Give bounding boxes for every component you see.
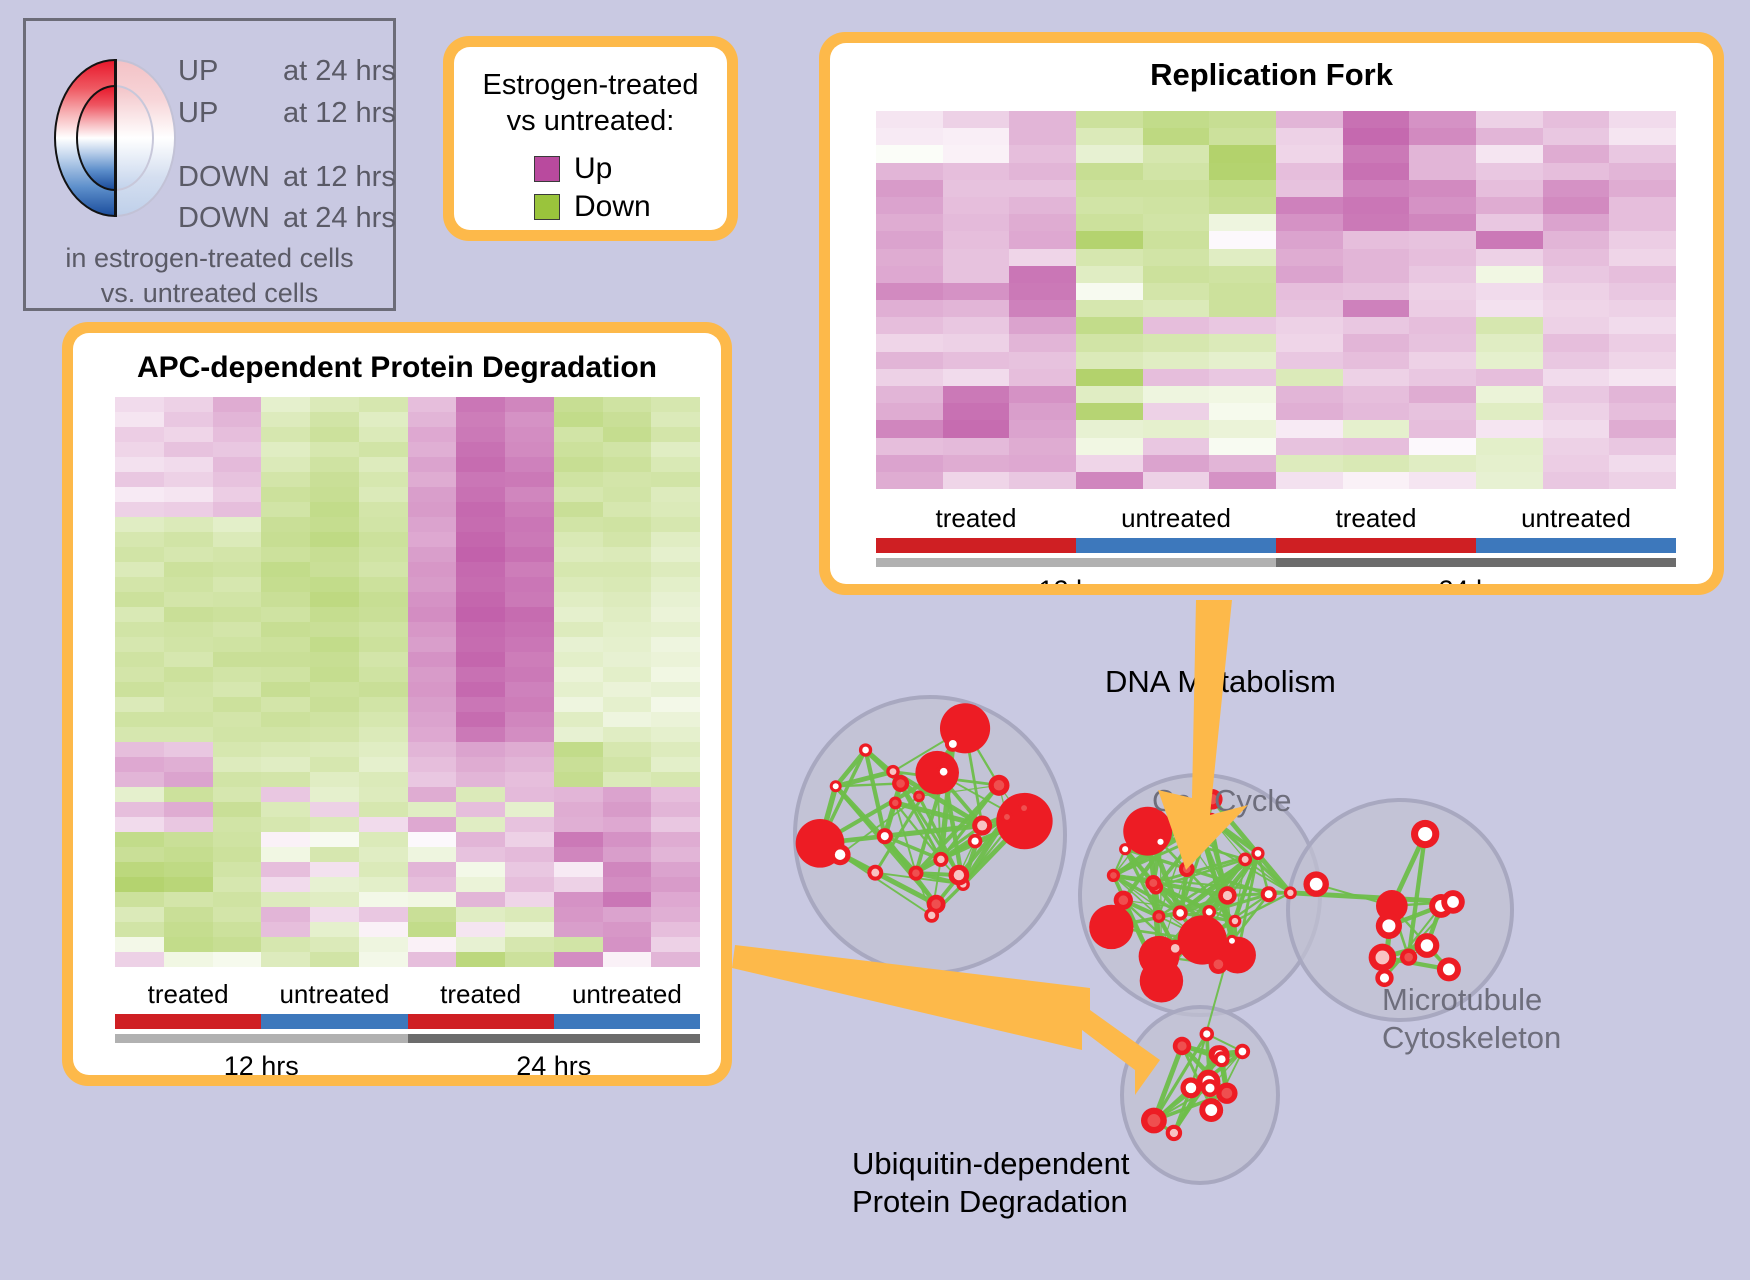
network-node[interactable] <box>1229 915 1242 928</box>
heatmap-cell <box>943 317 1010 334</box>
heatmap-cell <box>408 862 457 877</box>
heatmap-cell <box>115 637 164 652</box>
node-core <box>1122 846 1128 852</box>
heatmap-cell <box>1009 369 1076 386</box>
network-node[interactable] <box>988 775 1009 796</box>
heatmap-cell <box>651 727 700 742</box>
heatmap-cell <box>1143 472 1210 489</box>
heatmap-cell <box>1609 334 1676 351</box>
heatmap-cell <box>1409 145 1476 162</box>
heatmap-cell <box>261 877 310 892</box>
network-node[interactable] <box>1214 1051 1230 1067</box>
network-node[interactable] <box>1251 847 1264 860</box>
apc-heatmap-wrap: treateduntreatedtreateduntreated 12 hrs2… <box>115 397 700 1075</box>
heatmap-cell <box>1543 352 1610 369</box>
heatmap-cell <box>1143 369 1210 386</box>
heatmap-cell <box>115 577 164 592</box>
heatmap-cell <box>115 727 164 742</box>
heatmap-cell <box>1609 145 1676 162</box>
heatmap-cell <box>1343 386 1410 403</box>
network-node[interactable] <box>1192 825 1213 846</box>
heatmap-cell <box>651 817 700 832</box>
heatmap-cell <box>408 412 457 427</box>
heatmap-cell <box>1209 180 1276 197</box>
network-node[interactable] <box>1119 843 1131 855</box>
network-node[interactable] <box>830 844 851 865</box>
network-node[interactable] <box>1107 869 1120 882</box>
heatmap-cell <box>1143 266 1210 283</box>
heatmap-cell <box>456 937 505 952</box>
heatmap-cell <box>1076 317 1143 334</box>
heatmap-cell <box>408 877 457 892</box>
heatmap-cell <box>310 637 359 652</box>
heatmap-cell <box>164 637 213 652</box>
node-core <box>1183 865 1191 873</box>
heatmap-cell <box>310 802 359 817</box>
heatmap-cell <box>1543 420 1610 437</box>
heatmap-cell <box>1209 438 1276 455</box>
network-node[interactable] <box>867 865 883 881</box>
network-node[interactable] <box>1238 852 1252 866</box>
heatmap-cell <box>1409 197 1476 214</box>
network-node[interactable] <box>1173 905 1188 920</box>
node-core <box>1287 890 1293 896</box>
heatmap-cell <box>651 412 700 427</box>
network-node[interactable] <box>936 764 951 779</box>
heatmap-cell <box>1609 403 1676 420</box>
network-node[interactable] <box>949 865 970 886</box>
heatmap-cell <box>603 607 652 622</box>
heatmap-cell <box>1209 403 1276 420</box>
network-node[interactable] <box>1303 871 1328 896</box>
heatmap-cell <box>603 757 652 772</box>
heatmap-cell <box>164 847 213 862</box>
heatmap-cell <box>1476 386 1543 403</box>
heatmap-cell <box>876 438 943 455</box>
treatment-bar <box>261 1014 407 1029</box>
legend-item-down: Down <box>534 190 727 224</box>
heatmap-cell <box>213 457 262 472</box>
network-node[interactable] <box>1226 935 1238 947</box>
network-node[interactable] <box>830 780 842 792</box>
node-core <box>1223 891 1232 900</box>
heatmap-cell <box>554 397 603 412</box>
heatmap-cell <box>1009 197 1076 214</box>
heatmap-cell <box>213 637 262 652</box>
heatmap-cell <box>1476 214 1543 231</box>
heatmap-cell <box>1476 231 1543 248</box>
legend-caption-line2: vs. untreated cells <box>26 276 393 311</box>
node-core <box>1175 822 1183 830</box>
heatmap-cell <box>456 787 505 802</box>
heatmap-cell <box>651 952 700 967</box>
replication-fork-title: Replication Fork <box>830 57 1713 93</box>
heatmap-cell <box>1143 197 1210 214</box>
heatmap-cell <box>359 442 408 457</box>
heatmap-cell <box>943 163 1010 180</box>
heatmap-cell <box>505 802 554 817</box>
heatmap-cell <box>1276 420 1343 437</box>
heatmap-cell <box>1543 163 1610 180</box>
heatmap-cell <box>1009 214 1076 231</box>
heatmap-cell <box>261 607 310 622</box>
heatmap-cell <box>1276 455 1343 472</box>
heatmap-cell <box>1476 420 1543 437</box>
heatmap-cell <box>164 952 213 967</box>
network-node[interactable] <box>1411 820 1439 848</box>
apc-panel-title: APC-dependent Protein Degradation <box>73 351 721 385</box>
heatmap-cell <box>310 427 359 442</box>
heatmap-cell <box>261 787 310 802</box>
heatmap-cell <box>261 592 310 607</box>
network-node[interactable] <box>1218 886 1236 904</box>
heatmap-cell <box>115 592 164 607</box>
heatmap-cell <box>213 922 262 937</box>
network-node[interactable] <box>1235 1044 1250 1059</box>
heatmap-cell <box>1076 386 1143 403</box>
heatmap-cell <box>261 937 310 952</box>
apc-time-labels: 12 hrs24 hrs <box>115 1051 700 1075</box>
heatmap-cell <box>1409 438 1476 455</box>
heatmap-cell <box>1343 111 1410 128</box>
heatmap-cell <box>1076 197 1143 214</box>
heatmap-cell <box>1343 334 1410 351</box>
heatmap-cell <box>1143 145 1210 162</box>
heatmap-cell <box>359 712 408 727</box>
heatmap-cell <box>1276 231 1343 248</box>
treatment-bar <box>115 1014 261 1029</box>
heatmap-cell <box>943 266 1010 283</box>
heatmap-cell <box>505 817 554 832</box>
heatmap-cell <box>1476 403 1543 420</box>
heatmap-cell <box>505 562 554 577</box>
heatmap-cell <box>554 787 603 802</box>
network-node[interactable] <box>1089 905 1133 949</box>
time-label: 12 hrs <box>115 1051 408 1075</box>
heatmap-cell <box>505 607 554 622</box>
heatmap-cell <box>115 772 164 787</box>
heatmap-cell <box>359 592 408 607</box>
heatmap-cell <box>505 532 554 547</box>
heatmap-cell <box>1076 266 1143 283</box>
heatmap-cell <box>115 502 164 517</box>
heatmap-cell <box>651 922 700 937</box>
heatmap-cell <box>1409 352 1476 369</box>
network-node[interactable] <box>1400 949 1417 966</box>
heatmap-cell <box>1343 352 1410 369</box>
network-node[interactable] <box>933 852 948 867</box>
network-node[interactable] <box>945 736 961 752</box>
heatmap-cell <box>1143 455 1210 472</box>
heatmap-cell <box>1543 455 1610 472</box>
heatmap-cell <box>310 622 359 637</box>
heatmap-cell <box>603 502 652 517</box>
heatmap-cell <box>115 877 164 892</box>
network-node[interactable] <box>859 743 872 756</box>
wheel-divider <box>114 59 117 217</box>
heatmap-cell <box>1476 128 1543 145</box>
heatmap-cell <box>876 180 943 197</box>
heatmap-cell <box>1076 472 1143 489</box>
node-core <box>1177 1041 1186 1050</box>
network-node[interactable] <box>877 828 893 844</box>
heatmap-cell <box>651 622 700 637</box>
network-node[interactable] <box>1202 905 1216 919</box>
heatmap-cell <box>408 922 457 937</box>
heatmap-cell <box>213 622 262 637</box>
heatmap-cell <box>876 386 943 403</box>
heatmap-cell <box>1409 334 1476 351</box>
apc-group-labels: treateduntreatedtreateduntreated <box>115 979 700 1010</box>
network-node[interactable] <box>1200 1027 1214 1041</box>
heatmap-cell <box>261 742 310 757</box>
heatmap-cell <box>505 472 554 487</box>
network-node[interactable] <box>1369 944 1397 972</box>
heatmap-cell <box>261 427 310 442</box>
heatmap-cell <box>408 712 457 727</box>
heatmap-cell <box>261 577 310 592</box>
node-outer-ring <box>1089 905 1133 949</box>
heatmap-cell <box>505 517 554 532</box>
heatmap-cell <box>651 802 700 817</box>
heatmap-cell <box>310 877 359 892</box>
heatmap-cell <box>115 907 164 922</box>
heatmap-cell <box>164 697 213 712</box>
direction-time-legend: UP at 24 hrs UP at 12 hrs DOWN at 12 hrs… <box>23 18 396 311</box>
heatmap-cell <box>1076 283 1143 300</box>
heatmap-cell <box>213 427 262 442</box>
heatmap-cell <box>1543 180 1610 197</box>
network-node[interactable] <box>1376 913 1402 939</box>
legend-caption: in estrogen-treated cells vs. untreated … <box>26 241 393 310</box>
heatmap-cell <box>1209 317 1276 334</box>
heatmap-cell <box>554 652 603 667</box>
network-node[interactable] <box>1114 891 1133 910</box>
heatmap-cell <box>408 787 457 802</box>
heatmap-cell <box>651 442 700 457</box>
heatmap-cell <box>1409 163 1476 180</box>
network-node[interactable] <box>1415 933 1440 958</box>
heatmap-cell <box>1276 128 1343 145</box>
heatmap-cell <box>1209 111 1276 128</box>
heatmap-cell <box>505 952 554 967</box>
heatmap-cell <box>876 111 943 128</box>
heatmap-cell <box>1476 455 1543 472</box>
node-core <box>928 912 935 919</box>
heatmap-cell <box>261 637 310 652</box>
heatmap-cell <box>1609 197 1676 214</box>
heatmap-cell <box>943 214 1010 231</box>
network-node[interactable] <box>1441 890 1465 914</box>
heatmap-cell <box>1009 386 1076 403</box>
heatmap-cell <box>603 682 652 697</box>
heatmap-cell <box>554 922 603 937</box>
heatmap-cell <box>359 787 408 802</box>
heatmap-cell <box>1276 249 1343 266</box>
network-node[interactable] <box>1171 819 1187 835</box>
heatmap-cell <box>603 862 652 877</box>
heatmap-cell <box>1076 163 1143 180</box>
heatmap-cell <box>213 667 262 682</box>
heatmap-cell <box>310 787 359 802</box>
heatmap-cell <box>359 727 408 742</box>
heatmap-cell <box>213 862 262 877</box>
heatmap-cell <box>1143 317 1210 334</box>
network-node[interactable] <box>1018 802 1030 814</box>
group-label: treated <box>1276 503 1476 534</box>
heatmap-cell <box>310 697 359 712</box>
heatmap-cell <box>651 757 700 772</box>
network-node[interactable] <box>1261 886 1277 902</box>
heatmap-cell <box>408 727 457 742</box>
network-node[interactable] <box>1437 957 1461 981</box>
network-node[interactable] <box>1001 811 1013 823</box>
network-node[interactable] <box>1166 1125 1182 1141</box>
network-node[interactable] <box>1180 1077 1201 1098</box>
heatmap-cell <box>1343 266 1410 283</box>
heatmap-cell <box>261 532 310 547</box>
heatmap-cell <box>1076 403 1143 420</box>
node-core <box>1221 1088 1232 1099</box>
network-node[interactable] <box>1141 1108 1167 1134</box>
network-node[interactable] <box>924 908 939 923</box>
heatmap-cell <box>1009 249 1076 266</box>
treatment-bar <box>1276 538 1476 553</box>
heatmap-cell <box>261 442 310 457</box>
heatmap-cell <box>876 283 943 300</box>
heatmap-cell <box>1209 231 1276 248</box>
network-node[interactable] <box>1173 1037 1192 1056</box>
network-node[interactable] <box>1179 861 1195 877</box>
node-core <box>1382 919 1395 932</box>
heatmap-cell <box>115 412 164 427</box>
network-node[interactable] <box>1154 836 1166 848</box>
heatmap-cell <box>456 562 505 577</box>
heatmap-cell <box>1143 231 1210 248</box>
node-core <box>896 779 905 788</box>
heatmap-cell <box>1143 128 1210 145</box>
node-outer-ring <box>1140 959 1183 1002</box>
heatmap-cell <box>505 487 554 502</box>
heatmap-cell <box>164 772 213 787</box>
heatmap-cell <box>115 562 164 577</box>
network-node[interactable] <box>968 834 983 849</box>
heatmap-cell <box>408 832 457 847</box>
heatmap-cell <box>1343 300 1410 317</box>
heatmap-cell <box>554 472 603 487</box>
replication-fork-heatmap-wrap: treateduntreatedtreateduntreated 12 hrs2… <box>876 111 1676 584</box>
heatmap-cell <box>1009 403 1076 420</box>
network-node[interactable] <box>886 765 900 779</box>
heatmap-cell <box>554 757 603 772</box>
heatmap-cell <box>408 532 457 547</box>
node-core <box>890 768 897 775</box>
heatmap-cell <box>1609 420 1676 437</box>
network-node[interactable] <box>1167 940 1184 957</box>
heatmap-cell <box>1209 197 1276 214</box>
heatmap-cell <box>603 877 652 892</box>
heatmap-cell <box>1609 249 1676 266</box>
network-node[interactable] <box>1140 959 1183 1002</box>
heatmap-cell <box>213 487 262 502</box>
network-node[interactable] <box>1209 955 1228 974</box>
heatmap-cell <box>1009 128 1076 145</box>
heatmap-cell <box>310 592 359 607</box>
heatmap-cell <box>943 403 1010 420</box>
heatmap-cell <box>261 472 310 487</box>
heatmap-cell <box>213 937 262 952</box>
heatmap-cell <box>943 386 1010 403</box>
heatmap-cell <box>1076 352 1143 369</box>
heatmap-cell <box>456 577 505 592</box>
heatmap-cell <box>603 577 652 592</box>
network-node[interactable] <box>1284 886 1297 899</box>
heatmap-cell <box>603 952 652 967</box>
heatmap-cell <box>505 442 554 457</box>
heatmap-cell <box>1143 438 1210 455</box>
heatmap-cell <box>115 817 164 832</box>
heatmap-cell <box>603 772 652 787</box>
heatmap-cell <box>164 727 213 742</box>
heatmap-cell <box>213 757 262 772</box>
heatmap-cell <box>554 622 603 637</box>
heatmap-cell <box>408 937 457 952</box>
heatmap-cell <box>213 652 262 667</box>
heatmap-cell <box>1343 145 1410 162</box>
heatmap-cell <box>1276 369 1343 386</box>
network-node[interactable] <box>1152 910 1165 923</box>
heatmap-cell <box>213 952 262 967</box>
heatmap-cell <box>310 457 359 472</box>
heatmap-cell <box>408 472 457 487</box>
heatmap-cell <box>1009 111 1076 128</box>
network-node[interactable] <box>913 791 925 803</box>
heatmap-cell <box>456 532 505 547</box>
node-core <box>835 849 846 860</box>
heatmap-cell <box>1609 300 1676 317</box>
heatmap-cell <box>651 937 700 952</box>
heatmap-cell <box>456 487 505 502</box>
legend-title-line1: Estrogen-treated <box>454 67 727 103</box>
network-node[interactable] <box>972 816 992 836</box>
network-node[interactable] <box>908 866 923 881</box>
heatmap-cell <box>456 667 505 682</box>
network-node[interactable] <box>1201 1079 1219 1097</box>
heatmap-cell <box>1276 403 1343 420</box>
heatmap-cell <box>603 562 652 577</box>
heatmap-cell <box>164 427 213 442</box>
heatmap-cell <box>876 266 943 283</box>
heatmap-cell <box>213 877 262 892</box>
network-node[interactable] <box>889 796 902 809</box>
treatment-bar <box>408 1014 554 1029</box>
heatmap-cell <box>943 472 1010 489</box>
heatmap-cell <box>554 832 603 847</box>
heatmap-cell <box>1076 214 1143 231</box>
heatmap-cell <box>408 577 457 592</box>
heatmap-cell <box>505 412 554 427</box>
heatmap-cell <box>213 682 262 697</box>
heatmap-cell <box>359 652 408 667</box>
heatmap-cell <box>213 547 262 562</box>
heatmap-cell <box>554 592 603 607</box>
node-core <box>1214 959 1224 969</box>
heatmap-cell <box>164 517 213 532</box>
heatmap-cell <box>456 427 505 442</box>
heatmap-cell <box>1209 145 1276 162</box>
network-node[interactable] <box>1145 875 1161 891</box>
network-node[interactable] <box>1199 1098 1223 1122</box>
